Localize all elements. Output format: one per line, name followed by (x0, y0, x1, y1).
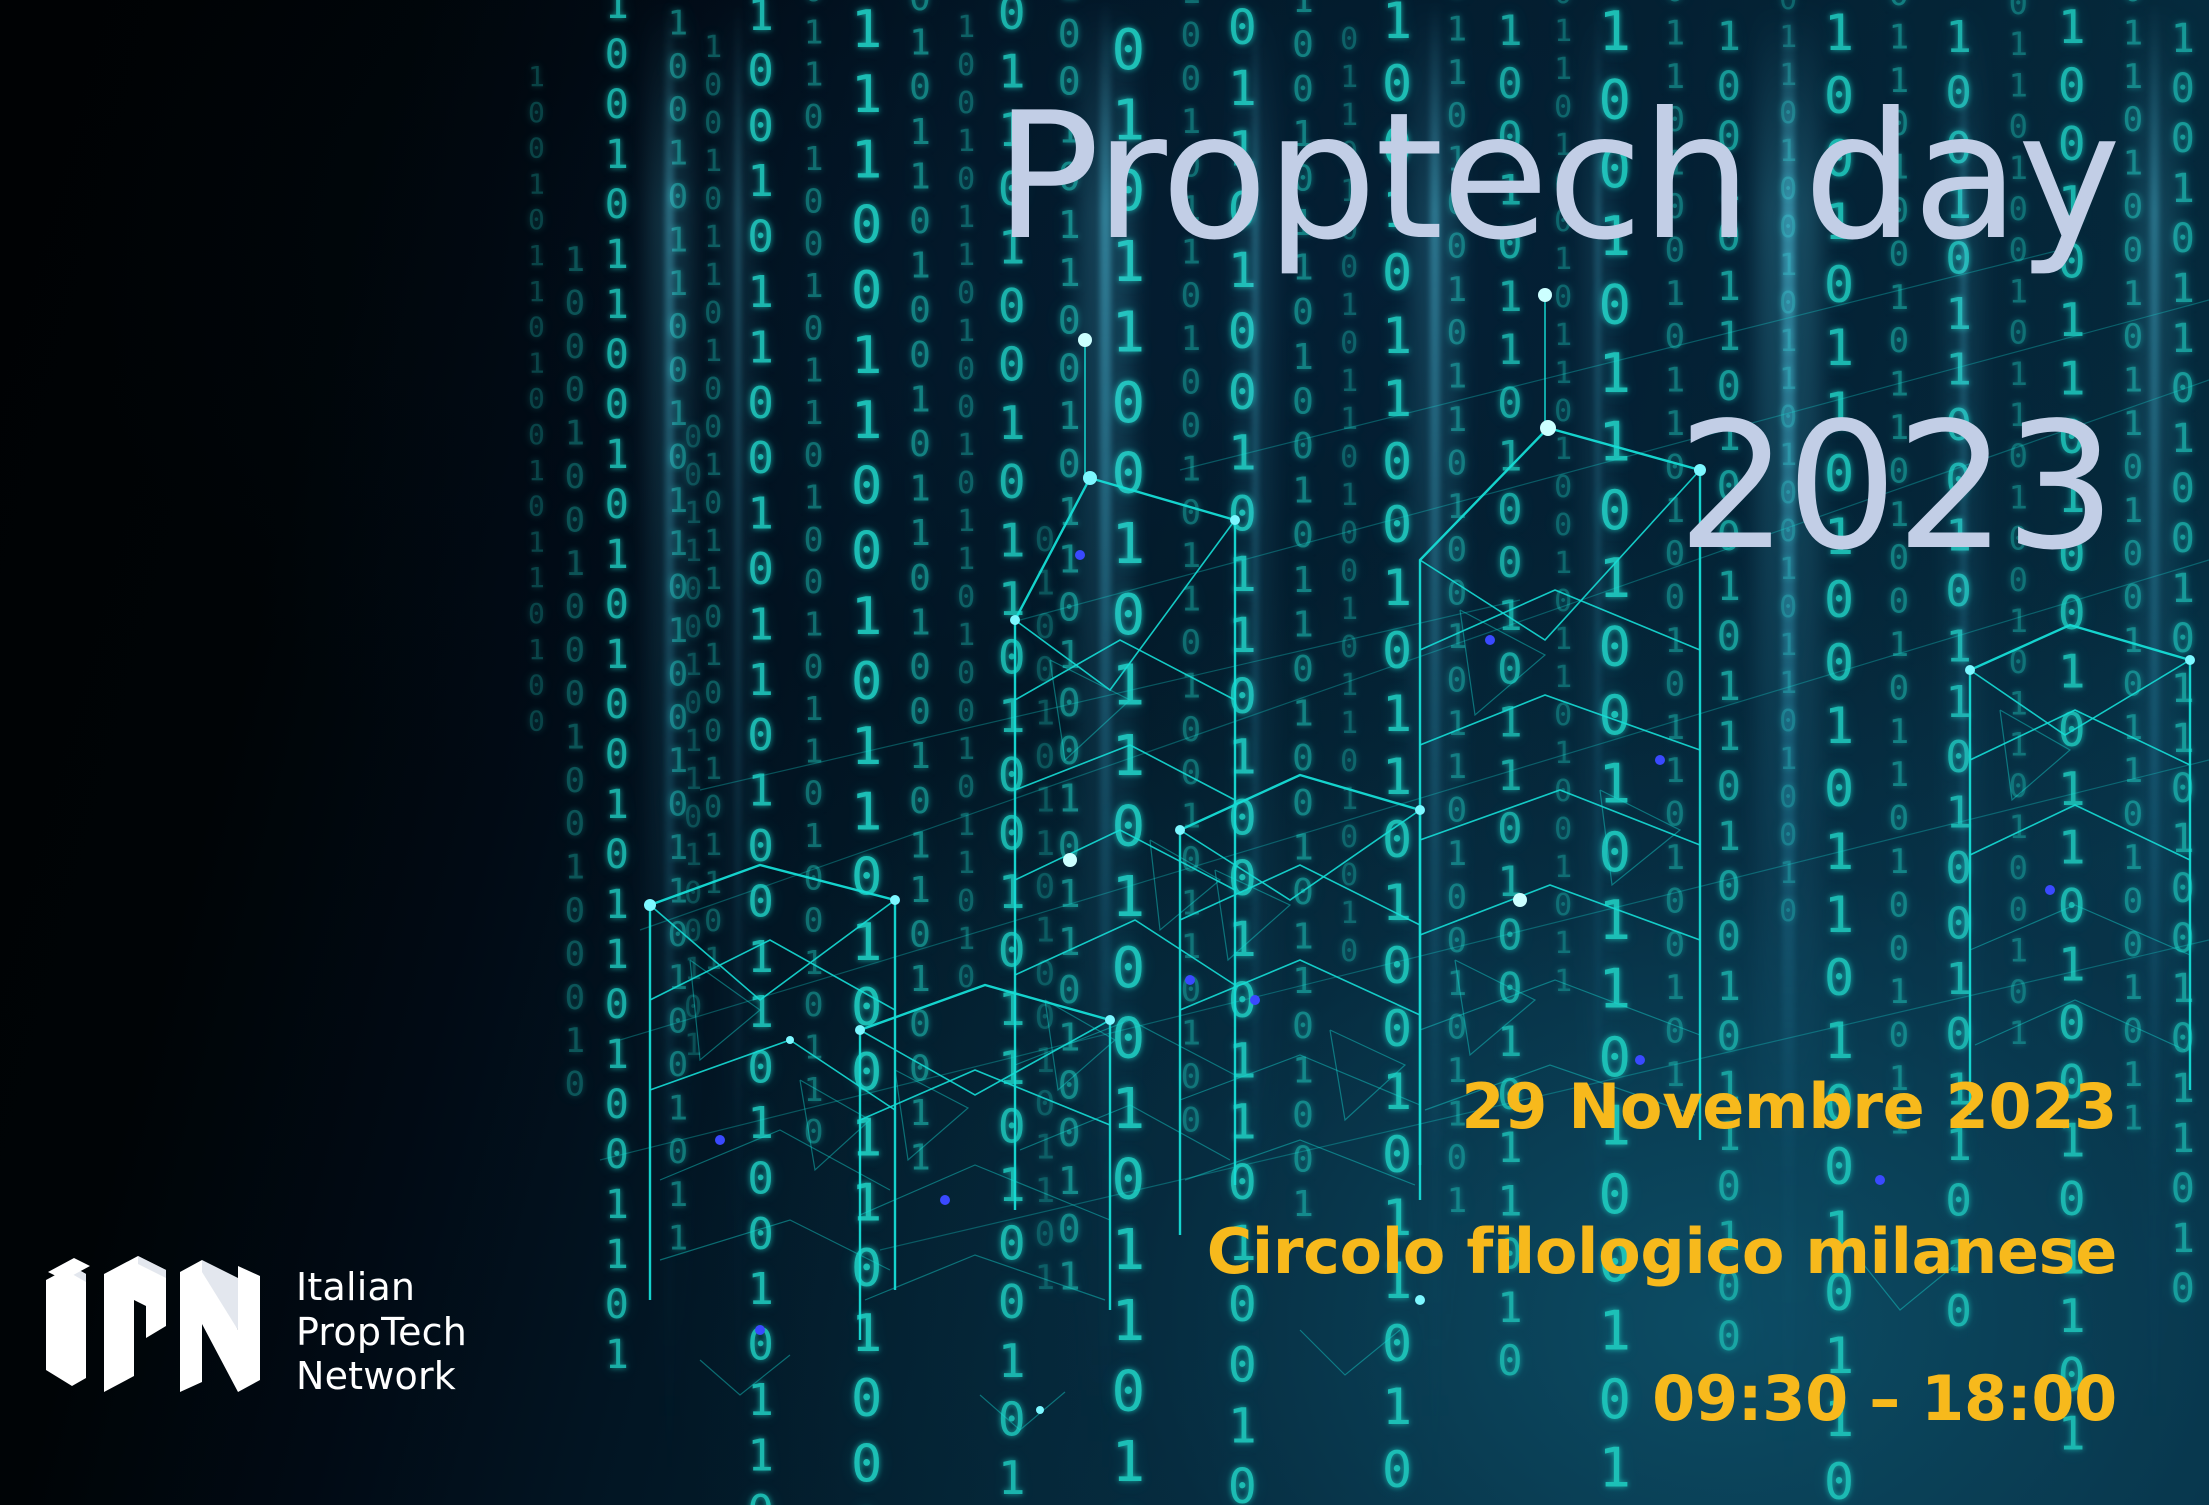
event-venue: Circolo filologico milanese (1207, 1215, 2117, 1288)
logo-text-line-2: PropTech (296, 1310, 467, 1354)
tower-c (1420, 288, 1706, 1165)
page-title-line-1: Proptech day (995, 90, 2119, 265)
logo-text-line-1: Italian (296, 1265, 467, 1309)
logo-wordmark: Italian PropTech Network (296, 1265, 467, 1398)
brand-logo: Italian PropTech Network (42, 1252, 467, 1412)
event-time: 09:30 – 18:00 (1652, 1362, 2117, 1435)
logo-text-line-3: Network (296, 1354, 467, 1398)
tower-b (1010, 333, 1240, 1210)
event-date: 29 Novembre 2023 (1461, 1070, 2117, 1143)
tower-d (1175, 775, 1425, 1235)
poster-canvas: 1001011001010100101101001101010010110010… (0, 0, 2209, 1505)
ipn-logo-icon (42, 1252, 270, 1412)
tower-e (1965, 625, 2195, 1115)
page-title-line-2: 2023 (1677, 400, 2114, 575)
tower-a (644, 865, 900, 1300)
